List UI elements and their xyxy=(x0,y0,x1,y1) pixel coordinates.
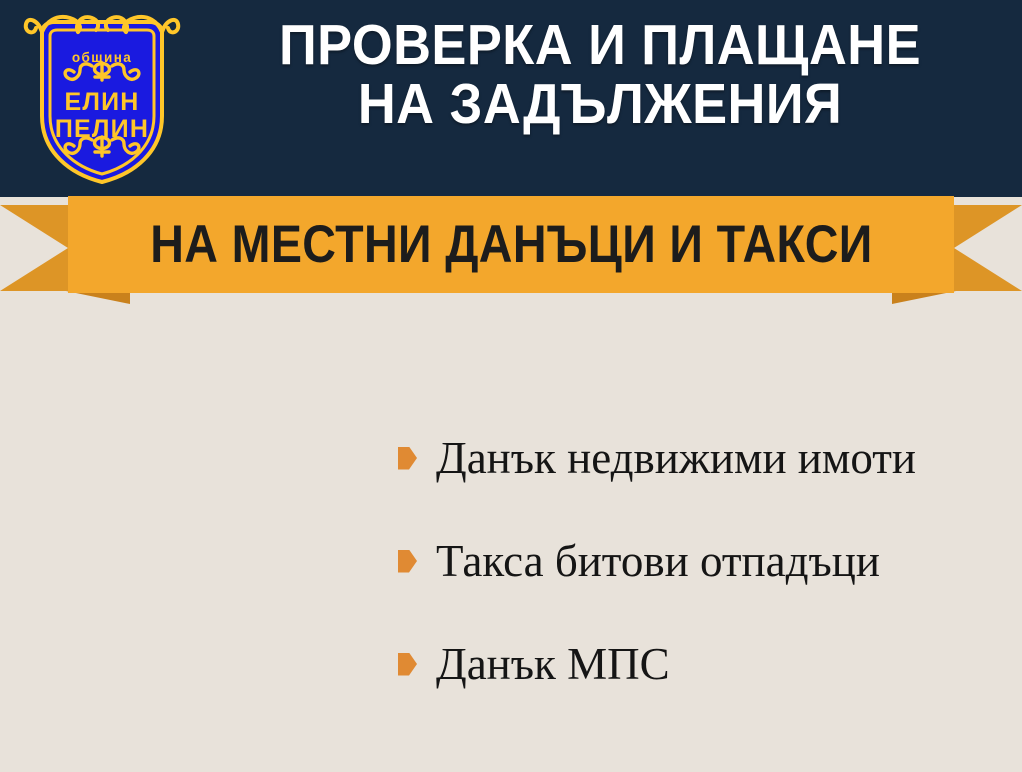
crest-shield-icon xyxy=(22,6,182,188)
tax-types-list: Данък недвижими имоти Такса битови отпад… xyxy=(398,424,1008,698)
tax-item-label: Данък МПС xyxy=(436,642,670,687)
subtitle-ribbon: НА МЕСТНИ ДАНЪЦИ И ТАКСИ xyxy=(0,190,1022,305)
tax-item-label: Такса битови отпадъци xyxy=(436,539,880,584)
list-item: Данък МПС xyxy=(398,630,1008,698)
stamp-paper xyxy=(38,328,195,485)
poster-title: ПРОВЕРКА И ПЛАЩАНЕ НА ЗАДЪЛЖЕНИЯ xyxy=(190,16,1010,133)
ribbon-label: НА МЕСТНИ ДАНЪЦИ И ТАКСИ xyxy=(150,214,872,275)
poster-canvas: община ЕЛИН ПЕЛИН ПРОВЕРКА И ПЛАЩАНЕ НА … xyxy=(0,0,1022,772)
list-item: Данък недвижими имоти xyxy=(398,424,1008,492)
arrow-bullet-icon xyxy=(398,653,417,676)
car-front-icon xyxy=(142,582,263,689)
stamp-illustration-group xyxy=(0,300,420,772)
arrow-bullet-icon xyxy=(398,550,417,573)
tax-item-label: Данък недвижими имоти xyxy=(436,436,916,481)
ribbon-panel: НА МЕСТНИ ДАНЪЦИ И ТАКСИ xyxy=(68,196,954,293)
list-item: Такса битови отпадъци xyxy=(398,527,1008,595)
municipality-crest-logo: община ЕЛИН ПЕЛИН xyxy=(22,6,182,188)
house-icon xyxy=(63,356,170,458)
title-line-2: НА ЗАДЪЛЖЕНИЯ xyxy=(223,75,977,134)
arrow-bullet-icon xyxy=(398,447,417,470)
title-line-1: ПРОВЕРКА И ПЛАЩАНЕ xyxy=(223,16,977,75)
stamp-card-property xyxy=(15,305,219,509)
